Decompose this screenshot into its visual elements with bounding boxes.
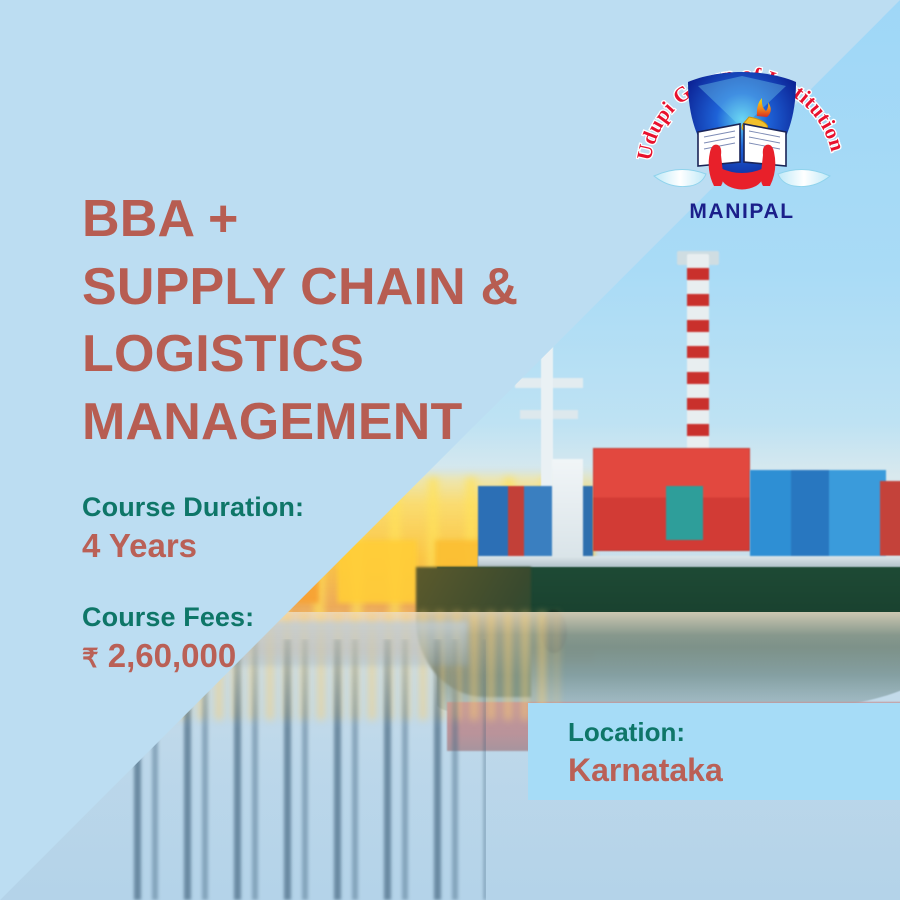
- rupee-icon: ₹: [82, 643, 99, 673]
- cargo-containers-far-right: [880, 481, 900, 557]
- course-fees-label: Course Fees:: [82, 602, 502, 634]
- course-duration-block: Course Duration: 4 Years: [82, 492, 502, 566]
- course-details: Course Duration: 4 Years Course Fees: ₹ …: [82, 492, 502, 676]
- course-duration-value: 4 Years: [82, 526, 502, 566]
- cargo-container-teal: [666, 486, 703, 540]
- page-title: BBA + SUPPLY CHAIN & LOGISTICS MANAGEMEN…: [82, 186, 622, 456]
- institution-logo: Udupi Group of Institutions: [636, 36, 848, 224]
- logo-bottom-text: MANIPAL: [689, 200, 794, 223]
- course-fees-block: Course Fees: ₹ 2,60,000: [82, 602, 502, 676]
- hand-right-icon: [761, 145, 776, 186]
- course-fees-amount: 2,60,000: [108, 637, 236, 674]
- course-poster: BBA + SUPPLY CHAIN & LOGISTICS MANAGEMEN…: [0, 0, 900, 900]
- location-badge: Location: Karnataka: [528, 703, 900, 800]
- cargo-containers-right: [750, 470, 886, 567]
- ribbon-left: [654, 169, 706, 186]
- funnel-smokestack: [687, 254, 709, 470]
- ship-bridge: [552, 459, 583, 567]
- ribbon-right: [778, 169, 830, 186]
- course-fees-value: ₹ 2,60,000: [82, 636, 502, 676]
- course-duration-label: Course Duration:: [82, 492, 502, 524]
- location-value: Karnataka: [568, 751, 900, 789]
- hand-left-icon: [709, 145, 724, 186]
- location-label: Location:: [568, 717, 900, 748]
